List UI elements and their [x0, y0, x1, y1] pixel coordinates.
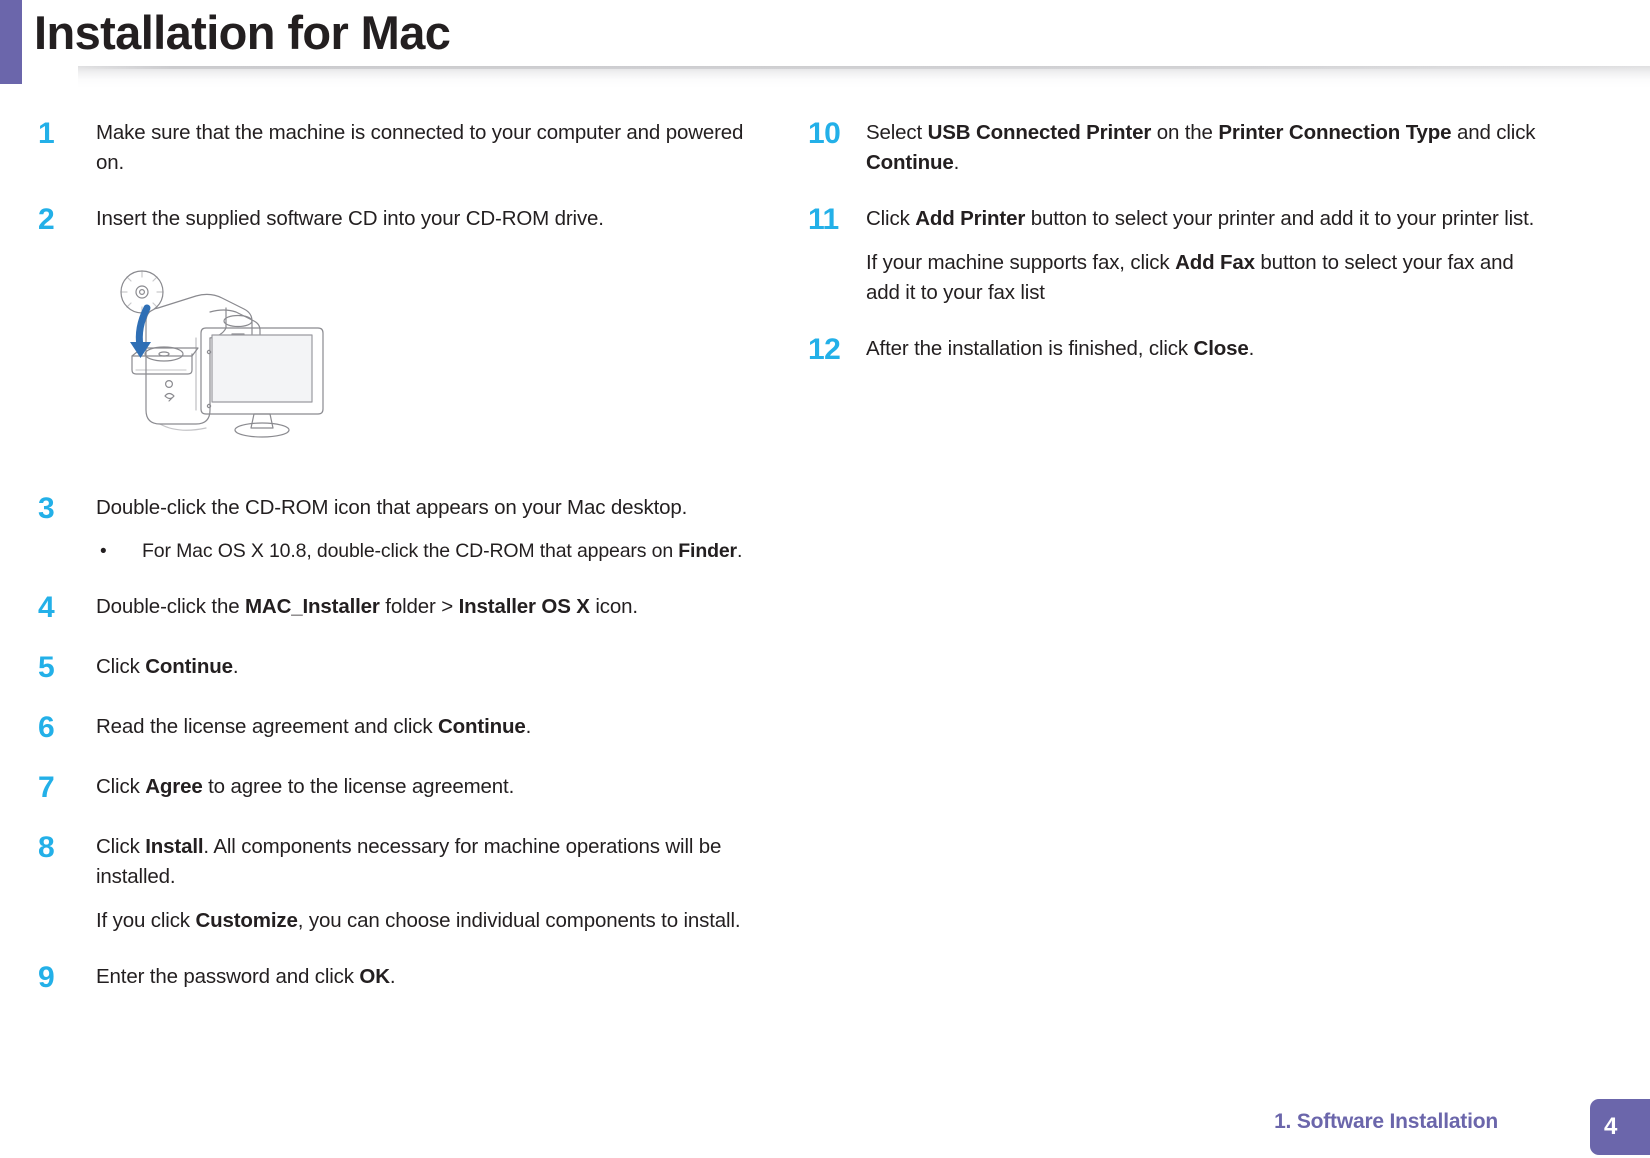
step-item: 10Select USB Connected Printer on the Pr… — [808, 118, 1543, 178]
step-item: 5Click Continue. — [38, 652, 773, 686]
left-column: 1Make sure that the machine is connected… — [38, 118, 773, 1022]
step-text: Make sure that the machine is connected … — [96, 118, 773, 178]
step-item: 9Enter the password and click OK. — [38, 962, 773, 996]
step-item: 4Double-click the MAC_Installer folder >… — [38, 592, 773, 626]
step-item: 12After the installation is finished, cl… — [808, 334, 1543, 368]
bullet-dot-icon: • — [100, 537, 107, 566]
step-number: 7 — [38, 769, 88, 807]
step-paragraph: Read the license agreement and click Con… — [96, 712, 773, 742]
step-number: 3 — [38, 490, 88, 528]
document-page: Installation for Mac 1Make sure that the… — [0, 0, 1650, 1158]
step-number: 10 — [808, 115, 858, 153]
step-text: After the installation is finished, clic… — [866, 334, 1543, 364]
page-header: Installation for Mac — [0, 0, 1650, 92]
header-accent-bar — [0, 0, 22, 84]
footer-page-number: 4 — [1590, 1099, 1650, 1155]
step-paragraph: Click Continue. — [96, 652, 773, 682]
step-number: 2 — [38, 201, 88, 239]
step-number: 12 — [808, 331, 858, 369]
step-paragraph: After the installation is finished, clic… — [866, 334, 1543, 364]
step-item: 11Click Add Printer button to select you… — [808, 204, 1543, 308]
step-text: Click Install. All components necessary … — [96, 832, 773, 936]
step-number: 4 — [38, 589, 88, 627]
step-paragraph: Make sure that the machine is connected … — [96, 118, 773, 178]
step-text: Read the license agreement and click Con… — [96, 712, 773, 742]
page-footer: 1. Software Installation 4 — [0, 1096, 1650, 1158]
footer-chapter-label: 1. Software Installation — [1274, 1110, 1498, 1134]
step-text: Enter the password and click OK. — [96, 962, 773, 992]
step-text: Click Agree to agree to the license agre… — [96, 772, 773, 802]
header-divider-shadow — [78, 66, 1650, 88]
step-text: Double-click the MAC_Installer folder > … — [96, 592, 773, 622]
step-number: 11 — [808, 201, 858, 239]
step-number: 6 — [38, 709, 88, 747]
step-paragraph: Select USB Connected Printer on the Prin… — [866, 118, 1543, 178]
step-paragraph: Click Add Printer button to select your … — [866, 204, 1543, 234]
step-item: 6Read the license agreement and click Co… — [38, 712, 773, 746]
page-title: Installation for Mac — [34, 2, 450, 64]
step-paragraph: Click Agree to agree to the license agre… — [96, 772, 773, 802]
step-paragraph: Click Install. All components necessary … — [96, 832, 773, 892]
step-number: 5 — [38, 649, 88, 687]
step-paragraph: Insert the supplied software CD into you… — [96, 204, 773, 234]
step-sub-bullet: •For Mac OS X 10.8, double-click the CD-… — [96, 537, 773, 566]
right-column: 10Select USB Connected Printer on the Pr… — [808, 118, 1543, 394]
step-number: 9 — [38, 959, 88, 997]
step-item: 1Make sure that the machine is connected… — [38, 118, 773, 178]
step-text: Double-click the CD-ROM icon that appear… — [96, 493, 773, 566]
step-paragraph-secondary: If your machine supports fax, click Add … — [866, 248, 1543, 308]
step-paragraph: Double-click the CD-ROM icon that appear… — [96, 493, 773, 523]
step-text: Click Continue. — [96, 652, 773, 682]
step-number: 8 — [38, 829, 88, 867]
step-item: 7Click Agree to agree to the license agr… — [38, 772, 773, 806]
cd-insert-into-computer-illustration — [102, 260, 362, 440]
illustration-wrapper — [96, 246, 773, 467]
step-item: 3Double-click the CD-ROM icon that appea… — [38, 493, 773, 566]
step-item: 8Click Install. All components necessary… — [38, 832, 773, 936]
step-paragraph: Double-click the MAC_Installer folder > … — [96, 592, 773, 622]
step-paragraph-secondary: If you click Customize, you can choose i… — [96, 906, 773, 936]
step-paragraph: Enter the password and click OK. — [96, 962, 773, 992]
step-number: 1 — [38, 115, 88, 153]
step-text: Click Add Printer button to select your … — [866, 204, 1543, 308]
step-item: 2Insert the supplied software CD into yo… — [38, 204, 773, 467]
step-text: Select USB Connected Printer on the Prin… — [866, 118, 1543, 178]
step-text: Insert the supplied software CD into you… — [96, 204, 773, 467]
